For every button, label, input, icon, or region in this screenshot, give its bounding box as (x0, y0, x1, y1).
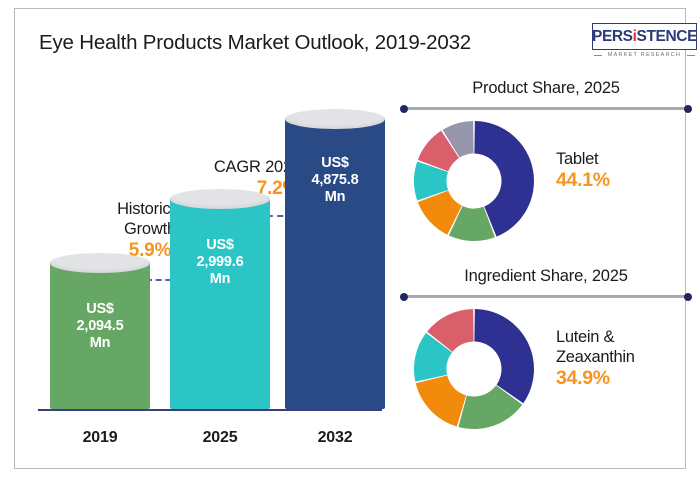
bar-2032-value-line1: US$ (285, 155, 385, 172)
bar-2025-value-line2: 2,999.6 (170, 254, 270, 271)
ingredient-share-legend: Lutein & Zeaxanthin 34.9% (556, 327, 691, 390)
ingredient-share-divider (404, 295, 688, 298)
ingredient-share-highlight-name-line2: Zeaxanthin (556, 347, 691, 367)
product-share-donut-svg (412, 119, 536, 243)
logo-tagline: MARKET RESEARCH (592, 52, 697, 58)
logo-wordmark-box: PERSiSTENCE (592, 23, 697, 50)
bar-2025-cap (170, 189, 270, 209)
bar-2032-value-line3: Mn (285, 189, 385, 206)
bar-2025-value-line3: Mn (170, 271, 270, 288)
bar-2019-value-line2: 2,094.5 (50, 318, 150, 335)
divider-dot-left-icon (400, 293, 408, 301)
bar-2032-value-line2: 4,875.8 (285, 172, 385, 189)
product-share-legend: Tablet 44.1% (556, 149, 691, 192)
product-share-divider (404, 107, 688, 110)
ingredient-share-donut-svg (412, 307, 536, 431)
bar-chart: Historical Growth 5.9% CAGR 2025-2032 7.… (30, 71, 386, 469)
bar-2019-value-line1: US$ (50, 301, 150, 318)
bar-2025-value: US$ 2,999.6 Mn (170, 237, 270, 288)
product-share-highlight-value: 44.1% (556, 169, 691, 192)
infographic-root: Eye Health Products Market Outlook, 2019… (0, 0, 700, 477)
brand-logo: PERSiSTENCE MARKET RESEARCH (592, 23, 697, 63)
divider-dot-left-icon (400, 105, 408, 113)
donut-slice (416, 376, 466, 427)
bar-2025-value-line1: US$ (170, 237, 270, 254)
page-title: Eye Health Products Market Outlook, 2019… (39, 31, 471, 55)
bar-2025: US$ 2,999.6 Mn 2025 (170, 199, 270, 409)
bar-2032-value: US$ 4,875.8 Mn (285, 155, 385, 206)
ingredient-share-slices (414, 309, 534, 429)
ingredient-share-highlight-name-line1: Lutein & (556, 327, 691, 347)
divider-dot-right-icon (684, 105, 692, 113)
donut-slice (474, 309, 534, 403)
bar-2025-label: 2025 (158, 429, 282, 447)
bar-2019-label: 2019 (38, 429, 162, 447)
bar-2019-value-line3: Mn (50, 335, 150, 352)
product-share-panel: Product Share, 2025 Tablet 44.1% (398, 79, 694, 257)
product-share-highlight-name: Tablet (556, 149, 691, 169)
bar-2019-cap (50, 253, 150, 273)
chart-baseline (38, 409, 382, 411)
bar-2032-cap (285, 109, 385, 129)
outer-frame: Eye Health Products Market Outlook, 2019… (14, 8, 686, 469)
ingredient-share-donut (412, 307, 536, 431)
bar-2032: US$ 4,875.8 Mn 2032 (285, 119, 385, 409)
bar-2032-label: 2032 (273, 429, 397, 447)
ingredient-share-title: Ingredient Share, 2025 (398, 267, 694, 286)
product-share-title: Product Share, 2025 (398, 79, 694, 98)
logo-wordmark: PERSiSTENCE (592, 29, 697, 45)
ingredient-share-highlight-value: 34.9% (556, 367, 691, 390)
bar-2025-body (170, 199, 270, 409)
product-share-donut (412, 119, 536, 243)
bar-2019-value: US$ 2,094.5 Mn (50, 301, 150, 352)
product-share-slices (414, 121, 534, 241)
logo-word-after: STENCE (637, 28, 697, 45)
divider-dot-right-icon (684, 293, 692, 301)
logo-word-before: PERS (592, 28, 633, 45)
ingredient-share-panel: Ingredient Share, 2025 Lutein & Zeaxanth… (398, 267, 694, 465)
bar-2019: US$ 2,094.5 Mn 2019 (50, 263, 150, 409)
